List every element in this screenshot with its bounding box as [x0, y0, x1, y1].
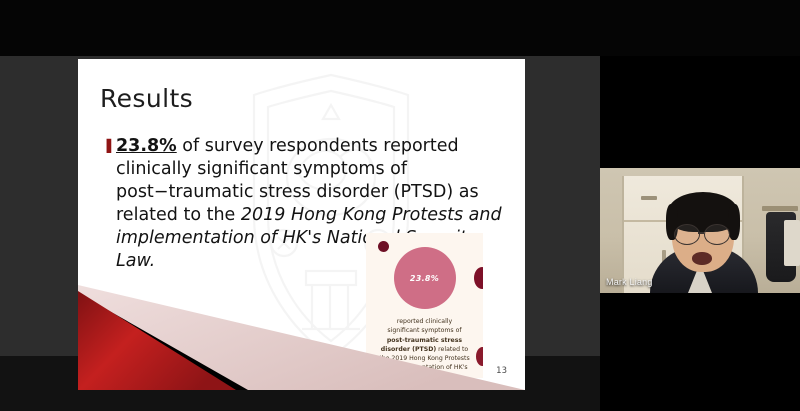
caption-line-4-rest: related to: [436, 346, 468, 353]
caption-line-3: post-traumatic stress: [370, 336, 479, 345]
infographic-caption: reported clinically significant symptoms…: [370, 317, 479, 378]
caption-line-4-bold: disorder (PTSD): [381, 346, 436, 353]
caption-line-7: National Security Law: [370, 373, 479, 378]
caption-line-6: and implementation of HK's: [370, 363, 479, 372]
page-title: Results: [100, 84, 193, 113]
caption-line-2: significant symptoms of: [370, 326, 479, 335]
participant-mouth: [692, 252, 712, 265]
meeting-window: Results ▐ 23.8% of survey respondents re…: [0, 0, 800, 411]
cabinet-handle-left: [641, 196, 657, 200]
coat-rail: [762, 206, 798, 211]
caption-line-5: the 2019 Hong Kong Protests: [370, 354, 479, 363]
glasses-lens-right-icon: [704, 224, 730, 245]
donut-chart: 23.8%: [394, 247, 456, 309]
participant-name-label: Mark Liang: [606, 277, 653, 287]
decorative-dot-right-upper-icon: [474, 267, 483, 289]
caption-line-4: disorder (PTSD) related to: [370, 345, 479, 354]
presentation-slide[interactable]: Results ▐ 23.8% of survey respondents re…: [78, 59, 525, 390]
glasses-bridge-icon: [698, 232, 704, 234]
stat-highlight: 23.8%: [116, 136, 177, 156]
window-top-bar: [0, 0, 800, 56]
donut-value-label: 23.8%: [410, 274, 439, 283]
caption-line-1: reported clinically: [370, 317, 479, 326]
participant-video-tile[interactable]: Mark Liang: [600, 168, 800, 293]
infographic-card: 23.8% reported clinically significant sy…: [366, 233, 483, 378]
bullet-marker: ▐: [102, 140, 112, 152]
glasses-lens-left-icon: [674, 224, 700, 245]
decorative-dot-icon: [378, 241, 389, 252]
slide-number: 13: [496, 366, 507, 376]
hanging-bag: [784, 220, 800, 266]
